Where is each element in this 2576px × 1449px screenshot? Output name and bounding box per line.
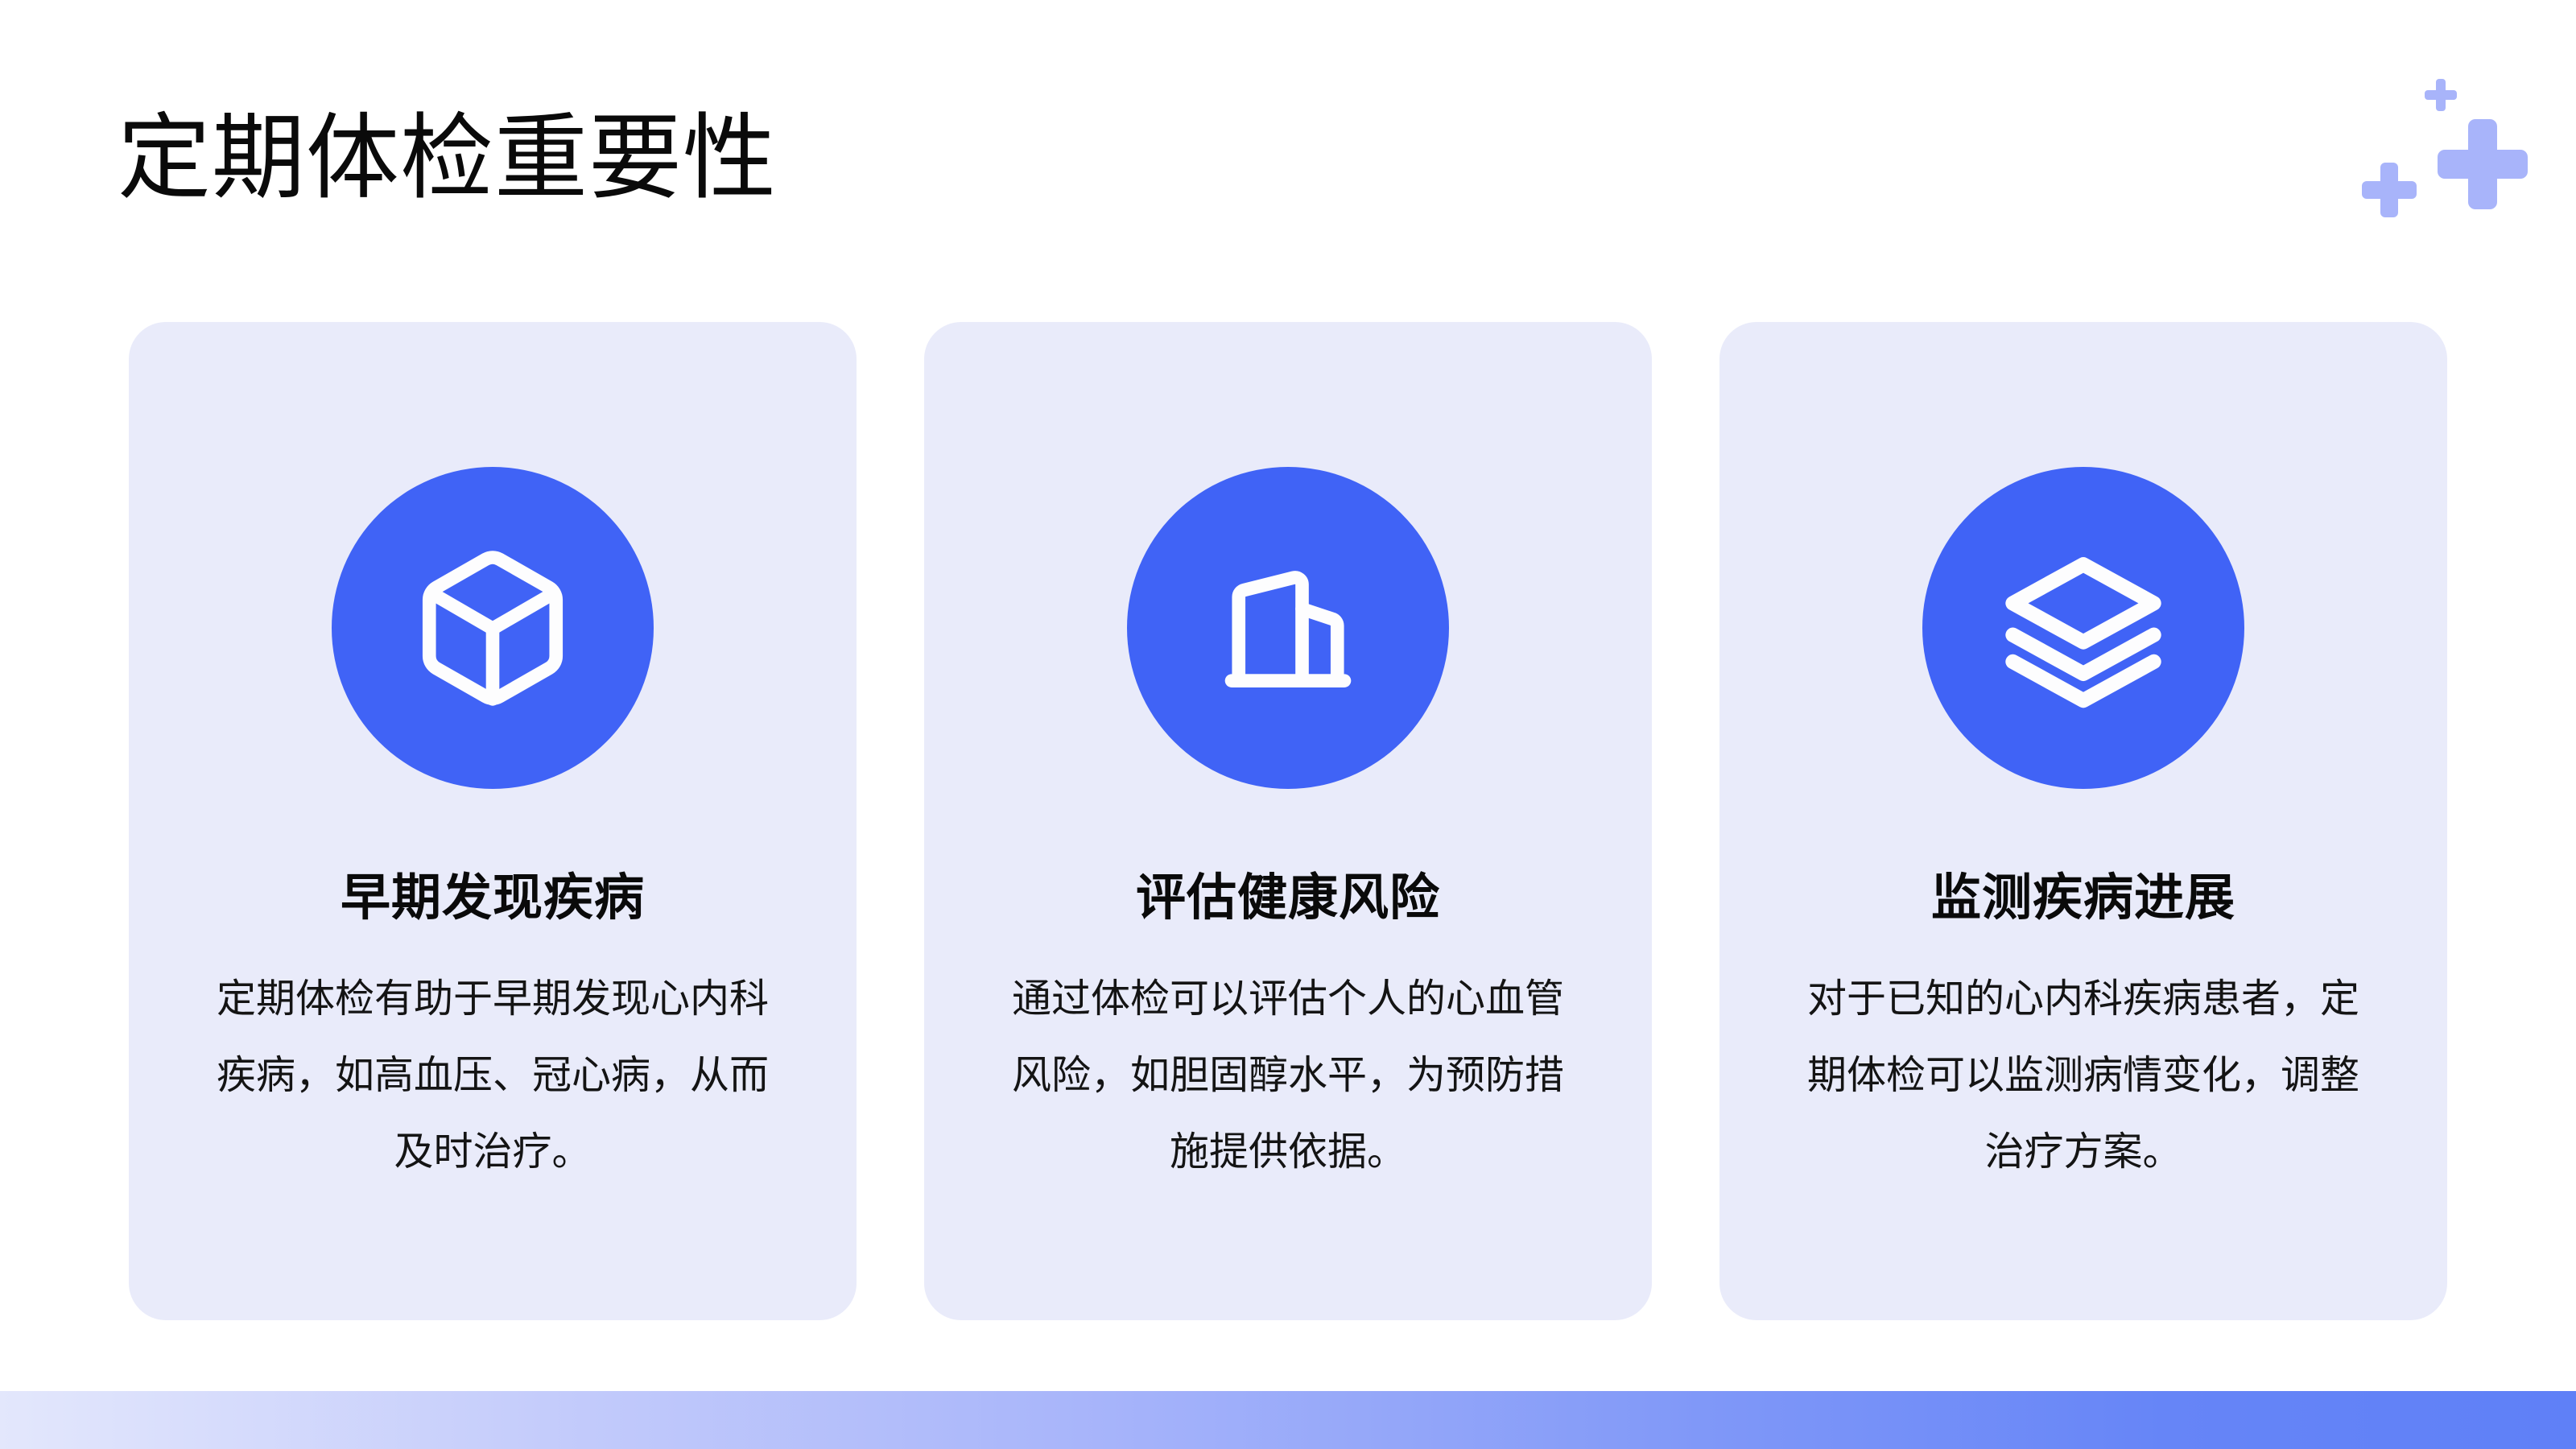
icon-badge — [1922, 467, 2244, 789]
card-body: 对于已知的心内科疾病患者，定期体检可以监测病情变化，调整治疗方案。 — [1802, 961, 2365, 1191]
gradient-bar — [0, 1391, 2576, 1449]
slide-root: 定期体检重要性 早期发现疾病 定期体检有助于早期发现心内科疾病，如高血压、冠心病… — [0, 0, 2576, 1449]
building-icon — [1203, 543, 1373, 712]
layers-icon — [1999, 543, 2168, 712]
card-title: 早期发现疾病 — [341, 871, 645, 926]
feature-card[interactable]: 评估健康风险 通过体检可以评估个人的心血管风险，如胆固醇水平，为预防措施提供依据… — [924, 322, 1652, 1320]
plus-icon-large — [2438, 119, 2528, 209]
plus-icon-small — [2425, 79, 2457, 111]
feature-card-row: 早期发现疾病 定期体检有助于早期发现心内科疾病，如高血压、冠心病，从而及时治疗。… — [129, 322, 2447, 1320]
page-title: 定期体检重要性 — [118, 103, 777, 213]
plus-cluster-decoration — [2351, 64, 2552, 217]
card-body: 通过体检可以评估个人的心血管风险，如胆固醇水平，为预防措施提供依据。 — [1006, 961, 1570, 1191]
card-title: 评估健康风险 — [1136, 871, 1440, 926]
card-body: 定期体检有助于早期发现心内科疾病，如高血压、冠心病，从而及时治疗。 — [211, 961, 774, 1191]
card-title: 监测疾病进展 — [1931, 871, 2235, 926]
feature-card[interactable]: 监测疾病进展 对于已知的心内科疾病患者，定期体检可以监测病情变化，调整治疗方案。 — [1719, 322, 2447, 1320]
icon-badge — [332, 467, 654, 789]
feature-card[interactable]: 早期发现疾病 定期体检有助于早期发现心内科疾病，如高血压、冠心病，从而及时治疗。 — [129, 322, 857, 1320]
icon-badge — [1127, 467, 1449, 789]
plus-icon-medium — [2362, 163, 2417, 217]
cube-icon — [408, 543, 577, 712]
